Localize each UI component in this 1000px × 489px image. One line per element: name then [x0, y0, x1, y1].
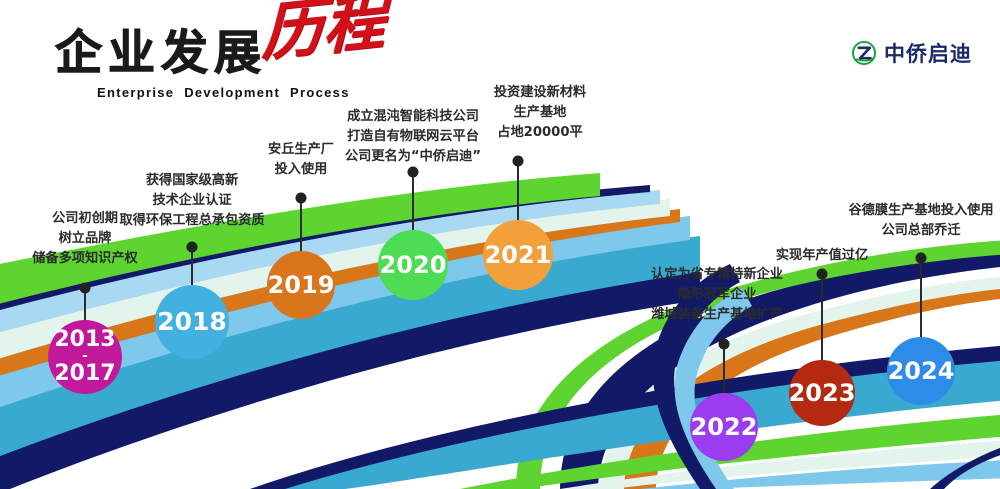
caption-line: 获得国家级高新 — [119, 171, 264, 191]
page-title-cn-accent: 历程 — [261, 0, 385, 61]
milestone-caption-2019: 安丘生产厂投入使用 — [268, 140, 334, 180]
milestone-stem-2024 — [920, 258, 922, 340]
page-title-en: Enterprise Development Process — [97, 85, 385, 100]
milestone-year-bubble-2023[interactable]: 2023 — [789, 360, 855, 426]
milestone-dot-icon-2023 — [817, 269, 828, 280]
company-emblem-icon — [851, 40, 877, 66]
caption-line: 打造自有物联网云平台 — [345, 127, 481, 147]
page-title-cn: 企业发展 — [55, 30, 267, 77]
caption-line: 实现年产值过亿 — [776, 246, 868, 266]
milestone-stem-2023 — [821, 274, 823, 362]
milestone-year-bubble-2020[interactable]: 2020 — [378, 230, 448, 300]
caption-line: 谷德膜生产基地投入使用 — [848, 201, 993, 221]
page-header: 企业发展 历程 Enterprise Development Process — [55, 30, 385, 100]
milestone-stem-2022 — [723, 344, 725, 396]
milestone-caption-2020: 成立混沌智能科技公司打造自有物联网云平台公司更名为“中侨启迪” — [345, 107, 481, 167]
caption-line: 公司更名为“中侨启迪” — [345, 147, 481, 167]
milestone-dot-icon-2019 — [296, 193, 307, 204]
title-row: 企业发展 历程 — [55, 30, 385, 77]
caption-line: 隐形冠军企业 — [651, 285, 783, 305]
caption-line: 取得环保工程总承包资质 — [119, 211, 264, 231]
year-label: 2020 — [380, 253, 447, 277]
company-name: 中侨启迪 — [884, 38, 972, 68]
caption-line: 储备多项知识产权 — [32, 249, 138, 269]
infographic-canvas: 企业发展 历程 Enterprise Development Process 中… — [0, 0, 1000, 489]
milestone-year-bubble-2024[interactable]: 2024 — [887, 337, 955, 405]
milestone-caption-2018: 获得国家级高新技术企业认证取得环保工程总承包资质 — [119, 171, 264, 231]
year-label: 2022 — [691, 415, 758, 439]
milestone-dot-icon-2018 — [187, 242, 198, 253]
year-label: 2024 — [888, 359, 955, 383]
milestone-dot-icon-2013-2017 — [80, 283, 91, 294]
milestone-caption-2024: 谷德膜生产基地投入使用公司总部乔迁 — [848, 201, 993, 241]
caption-line: 生产基地 — [494, 103, 586, 123]
milestone-caption-2022: 认定为省专精特新企业隐形冠军企业潍城装备生产基地扩产 — [651, 265, 783, 325]
year-label: 2021 — [485, 243, 552, 267]
caption-line: 技术企业认证 — [119, 191, 264, 211]
caption-line: 成立混沌智能科技公司 — [345, 107, 481, 127]
caption-line: 占地20000平 — [494, 123, 586, 143]
milestone-dot-icon-2024 — [916, 253, 927, 264]
year-label: 2018 — [157, 309, 227, 335]
milestone-dot-icon-2022 — [719, 339, 730, 350]
milestone-stem-2021 — [517, 161, 519, 221]
milestone-dot-icon-2020 — [408, 167, 419, 178]
milestone-dot-icon-2021 — [513, 156, 524, 167]
milestone-year-bubble-2021[interactable]: 2021 — [483, 220, 553, 290]
caption-line: 投入使用 — [268, 160, 334, 180]
caption-line: 潍城装备生产基地扩产 — [651, 305, 783, 325]
milestone-year-bubble-2019[interactable]: 2019 — [267, 251, 335, 319]
milestone-year-bubble-2013-2017[interactable]: 2013-2017 — [48, 320, 122, 394]
milestone-stem-2020 — [412, 172, 414, 232]
milestone-stem-2019 — [300, 198, 302, 254]
caption-line: 安丘生产厂 — [268, 140, 334, 160]
year-label: 2017 — [54, 363, 115, 385]
year-label: 2023 — [789, 381, 856, 405]
caption-line: 投资建设新材料 — [494, 83, 586, 103]
year-label: 2019 — [268, 273, 335, 297]
milestone-year-bubble-2018[interactable]: 2018 — [155, 285, 229, 359]
milestone-caption-2021: 投资建设新材料生产基地占地20000平 — [494, 83, 586, 143]
milestone-caption-2023: 实现年产值过亿 — [776, 246, 868, 266]
caption-line: 公司总部乔迁 — [848, 221, 993, 241]
caption-line: 树立品牌 — [32, 229, 138, 249]
caption-line: 认定为省专精特新企业 — [651, 265, 783, 285]
milestone-year-bubble-2022[interactable]: 2022 — [690, 393, 758, 461]
brand-logo: 中侨启迪 — [851, 38, 972, 68]
